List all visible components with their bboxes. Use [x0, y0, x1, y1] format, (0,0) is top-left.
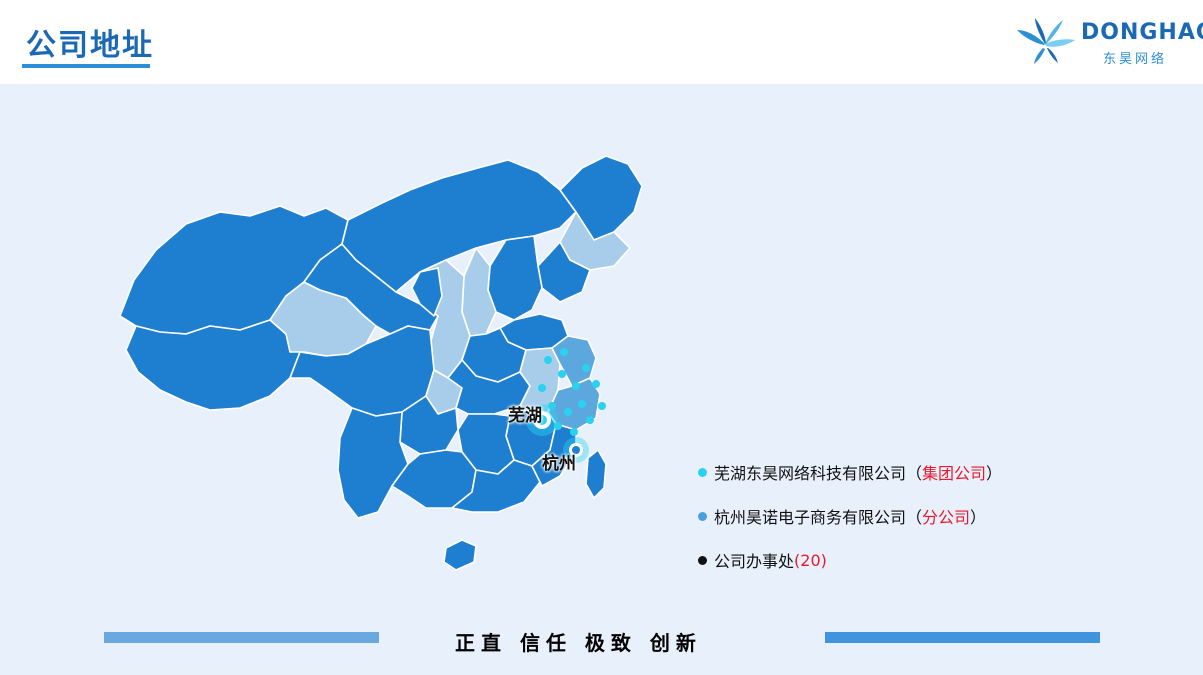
province-yunnan — [338, 408, 408, 518]
legend-text-2: 杭州昊诺电子商务有限公司（ — [714, 504, 922, 528]
province-hainan — [444, 540, 476, 570]
title-underline — [22, 64, 150, 68]
china-map: 芜湖 杭州 — [90, 120, 710, 600]
page-title: 公司地址 — [26, 20, 154, 64]
footer-bar-right — [825, 632, 1100, 643]
legend: 芜湖东昊网络科技有限公司（集团公司） 杭州昊诺电子商务有限公司（分公司） 公司办… — [698, 460, 1098, 592]
fan-logo-icon — [1015, 18, 1077, 66]
province-hebei — [488, 236, 542, 320]
legend-emphasis-3: (20) — [794, 551, 827, 570]
province-taiwan — [586, 450, 606, 498]
legend-emphasis-1: 集团公司 — [922, 460, 986, 484]
legend-dot-black — [698, 556, 707, 565]
legend-item-offices: 公司办事处(20) — [698, 548, 1098, 572]
legend-text-after-1: ） — [986, 460, 1002, 484]
legend-dot-cyan — [698, 468, 707, 477]
map-label-hangzhou: 杭州 — [542, 449, 576, 474]
legend-dot-blue — [698, 512, 707, 521]
logo-subtext: 东昊网络 — [1103, 48, 1167, 67]
legend-text-1: 芜湖东昊网络科技有限公司（ — [714, 460, 922, 484]
page-header: 公司地址 DONGHAO 东昊网络 — [0, 0, 1203, 84]
legend-item-group-company: 芜湖东昊网络科技有限公司（集团公司） — [698, 460, 1098, 484]
legend-item-branch-company: 杭州昊诺电子商务有限公司（分公司） — [698, 504, 1098, 528]
logo-text: DONGHAO — [1081, 20, 1203, 45]
legend-text-3: 公司办事处 — [714, 548, 794, 572]
legend-text-after-2: ） — [970, 504, 986, 528]
map-label-wuhu: 芜湖 — [508, 401, 542, 426]
company-logo: DONGHAO 东昊网络 — [1015, 14, 1185, 72]
legend-emphasis-2: 分公司 — [922, 504, 970, 528]
footer-bar-left — [104, 632, 379, 643]
province-tibet — [126, 320, 300, 410]
footer-slogan: 正直 信任 极致 创新 — [455, 627, 702, 656]
china-map-svg — [90, 120, 710, 600]
